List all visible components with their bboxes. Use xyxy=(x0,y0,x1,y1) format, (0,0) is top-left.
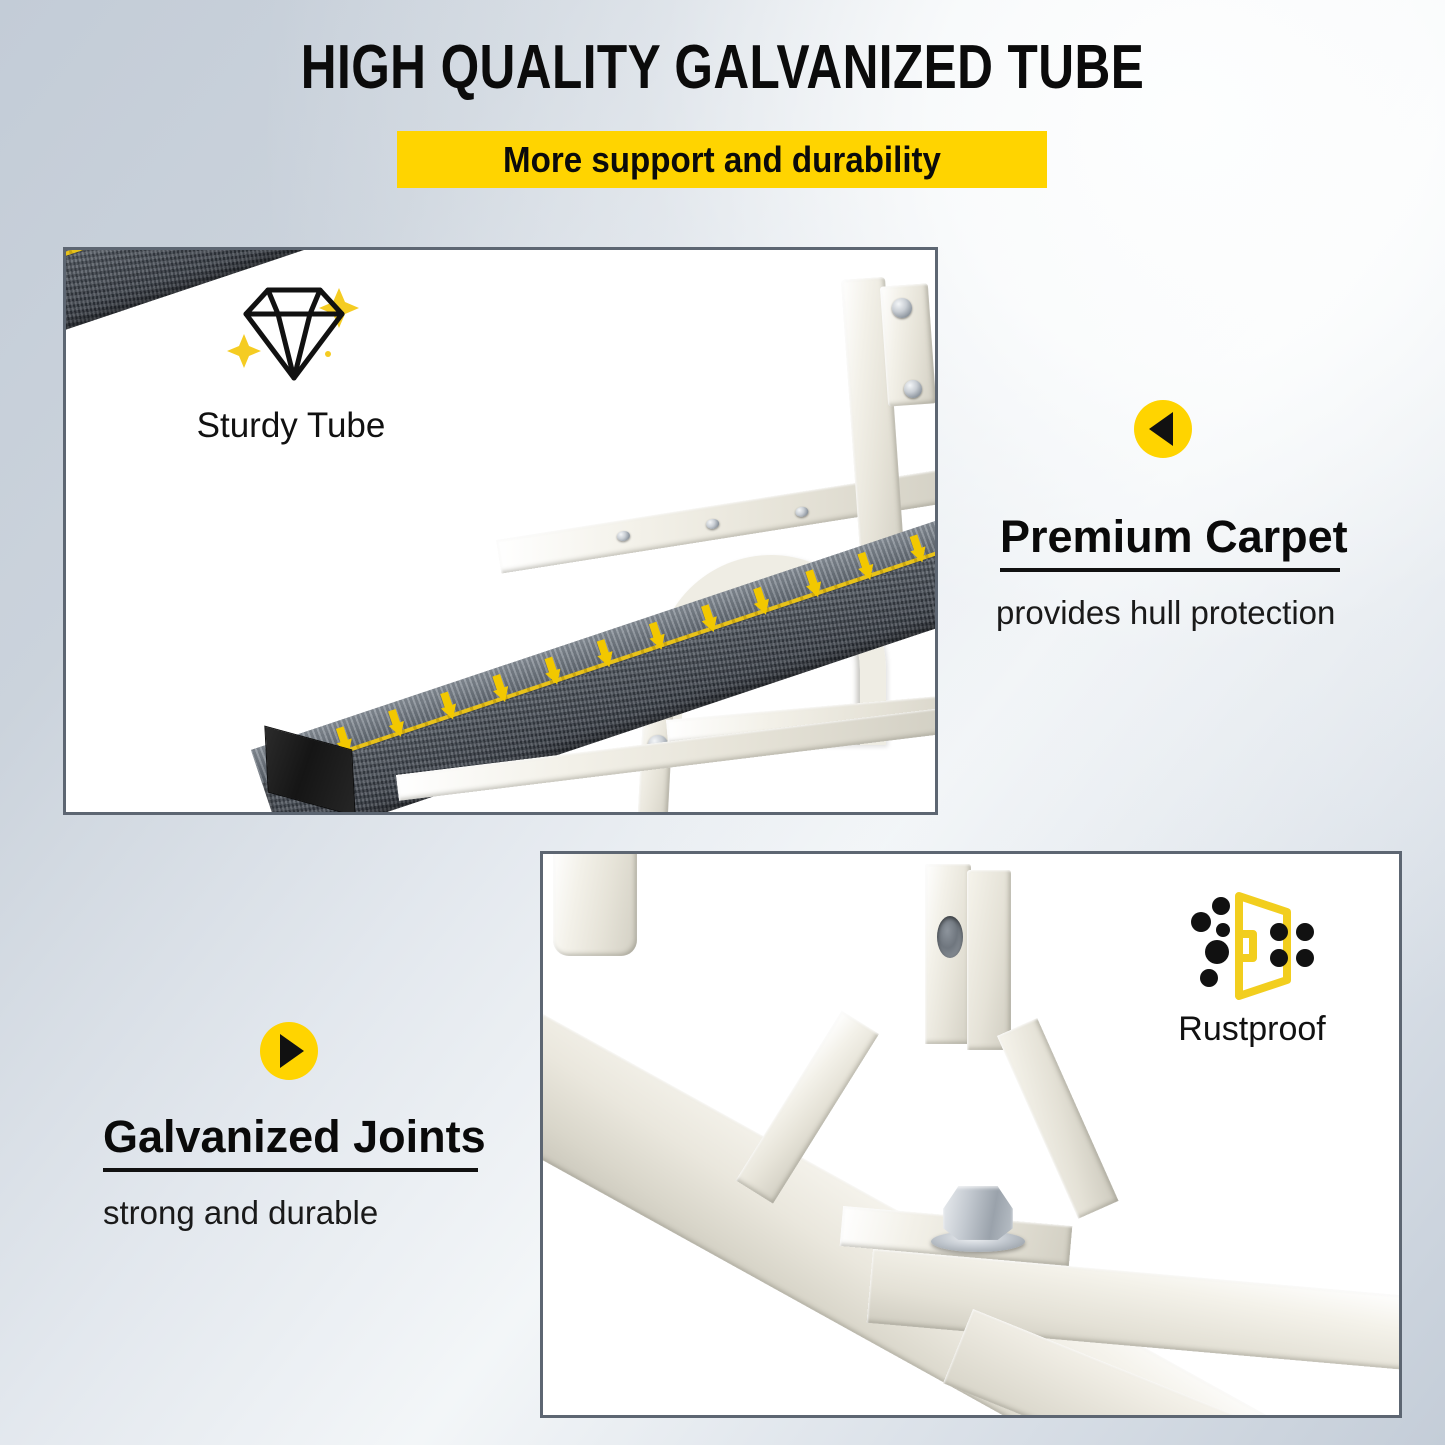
bracket-mounting-hole xyxy=(937,916,963,958)
bracket-right-plate xyxy=(967,870,1011,1050)
frame-bolt xyxy=(892,298,912,318)
poster-canvas: HIGH QUALITY GALVANIZED TUBE More suppor… xyxy=(0,0,1445,1445)
feature-galvanized-joints: Galvanized Joints strong and durable xyxy=(103,1112,478,1232)
frame-stub xyxy=(553,851,637,956)
triangle-left-icon xyxy=(1149,412,1173,446)
carpeted-bunk-photo-panel: Sturdy Tube xyxy=(63,247,938,815)
frame-hole xyxy=(795,506,809,518)
down-arrow-icon xyxy=(645,620,670,654)
galvanized-bracket-photo-panel: Rustproof xyxy=(540,851,1402,1418)
down-arrow-icon xyxy=(854,551,879,585)
frame-bolt xyxy=(904,380,922,398)
premium-carpet-rule xyxy=(1000,568,1340,572)
bracket-photo: Rustproof xyxy=(543,854,1399,1415)
bunk-photo: Sturdy Tube xyxy=(66,250,935,812)
down-arrow-icon xyxy=(436,690,461,724)
rustproof-shield-icon xyxy=(1187,886,1317,1006)
sturdy-tube-label: Sturdy Tube xyxy=(151,406,431,446)
down-arrow-icon xyxy=(749,586,774,620)
frame-hole xyxy=(616,530,630,542)
rustproof-badge: Rustproof xyxy=(1147,886,1357,1049)
diamond-icon xyxy=(216,270,366,400)
down-arrow-icon xyxy=(697,603,722,637)
galvanized-joints-heading: Galvanized Joints xyxy=(103,1112,478,1162)
down-arrow-icon xyxy=(489,673,514,707)
galvanized-joints-subtext: strong and durable xyxy=(103,1194,478,1232)
rustproof-label: Rustproof xyxy=(1147,1010,1357,1049)
carpet-stitching-upper xyxy=(63,247,938,265)
page-title: HIGH QUALITY GALVANIZED TUBE xyxy=(145,37,1301,99)
down-arrow-icon xyxy=(593,638,618,672)
subtitle-text: More support and durability xyxy=(503,139,941,181)
feature-premium-carpet: Premium Carpet provides hull protection xyxy=(1000,512,1340,632)
galvanized-joints-rule xyxy=(103,1168,478,1172)
down-arrow-icon xyxy=(802,568,827,602)
down-arrow-icon xyxy=(541,655,566,689)
hex-bolt xyxy=(931,1186,1025,1252)
premium-carpet-subtext: provides hull protection xyxy=(996,594,1340,632)
galvanized-joints-marker xyxy=(260,1022,318,1080)
frame-hole xyxy=(705,518,719,530)
premium-carpet-marker xyxy=(1134,400,1192,458)
triangle-right-icon xyxy=(280,1034,304,1068)
subtitle-banner: More support and durability xyxy=(397,131,1047,188)
down-arrow-icon xyxy=(906,533,931,567)
galvanized-bracket xyxy=(901,864,1101,1294)
sturdy-tube-badge: Sturdy Tube xyxy=(151,270,431,446)
down-arrow-icon xyxy=(384,708,409,742)
premium-carpet-heading: Premium Carpet xyxy=(1000,512,1340,562)
bolt-head xyxy=(943,1186,1013,1240)
